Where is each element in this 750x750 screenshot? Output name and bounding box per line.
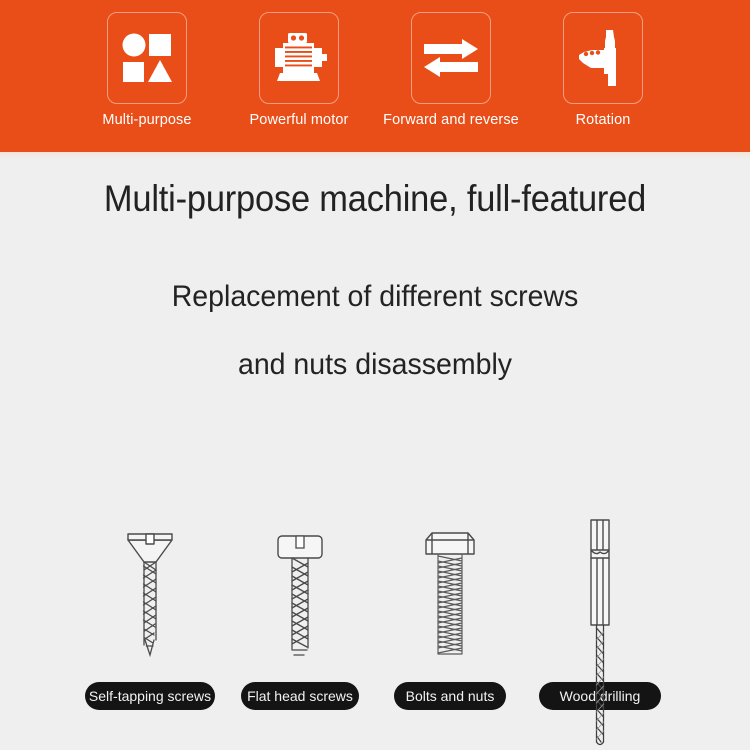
feature-item-forward-reverse[interactable]: Forward and reverse	[375, 0, 527, 128]
feature-label: Forward and reverse	[383, 113, 519, 128]
hex-bolt-icon	[410, 500, 490, 685]
product-item-self-tapping-screws[interactable]: Self-tapping screws	[75, 500, 225, 750]
feature-icon-box	[563, 12, 643, 104]
self-tapping-screw-icon	[110, 500, 190, 685]
product-label-pill: Bolts and nuts	[394, 682, 506, 710]
product-illustration	[75, 500, 225, 685]
product-label-pill: Flat head screws	[241, 682, 359, 710]
product-illustration	[525, 500, 675, 685]
feature-list: Multi-purpose	[0, 0, 750, 152]
page-title: Multi-purpose machine, full-featured	[26, 178, 724, 220]
feature-label: Powerful motor	[250, 113, 349, 128]
wood-drill-bit-icon	[560, 500, 640, 685]
bidirectional-arrows-icon	[422, 38, 480, 78]
feature-item-multi-purpose[interactable]: Multi-purpose	[71, 0, 223, 128]
subtitle-line-2: and nuts disassembly	[19, 348, 732, 382]
feature-icon-box	[107, 12, 187, 104]
product-label: Bolts and nuts	[406, 688, 495, 704]
feature-label: Multi-purpose	[102, 113, 191, 128]
product-label-pill: Self-tapping screws	[85, 682, 215, 710]
product-item-flat-head-screws[interactable]: Flat head screws	[225, 500, 375, 750]
subtitle-line-1: Replacement of different screws	[19, 280, 732, 314]
feature-icon-box	[259, 12, 339, 104]
product-label-pill: Wood drilling	[539, 682, 661, 710]
feature-item-rotation[interactable]: Rotation	[527, 0, 679, 128]
banner-fade-divider	[0, 152, 750, 159]
product-illustration	[225, 500, 375, 685]
product-list: Self-tapping screws	[0, 500, 750, 750]
power-drill-icon	[575, 28, 631, 88]
shapes-grid-icon	[119, 30, 175, 86]
product-illustration	[375, 500, 525, 685]
electric-motor-icon	[270, 31, 328, 85]
product-label: Wood drilling	[560, 688, 641, 704]
product-item-bolts-and-nuts[interactable]: Bolts and nuts	[375, 500, 525, 750]
feature-item-powerful-motor[interactable]: Powerful motor	[223, 0, 375, 128]
feature-label: Rotation	[576, 113, 631, 128]
flat-head-screw-icon	[260, 500, 340, 685]
product-label: Flat head screws	[247, 688, 353, 704]
product-label: Self-tapping screws	[89, 688, 211, 704]
feature-icon-box	[411, 12, 491, 104]
product-item-wood-drilling[interactable]: Wood drilling	[525, 500, 675, 750]
